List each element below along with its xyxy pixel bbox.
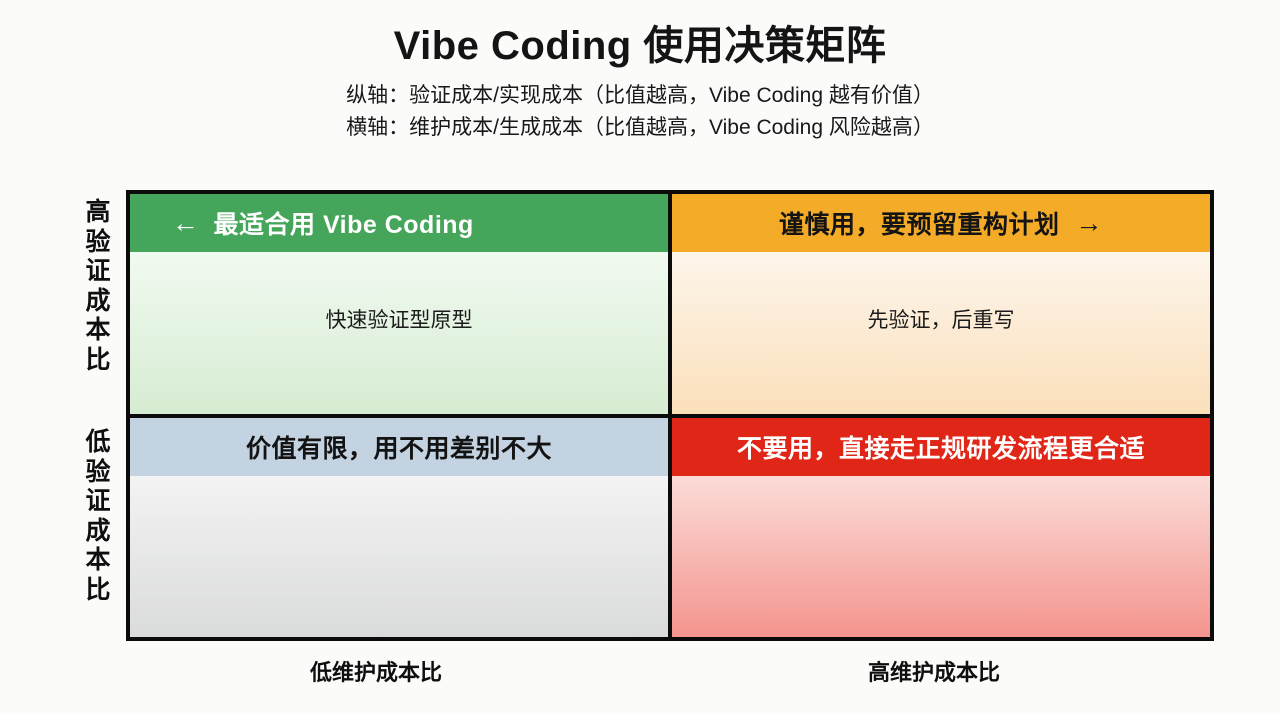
quadrant-top-right-banner: 谨慎用，要预留重构计划 →: [672, 194, 1210, 252]
matrix-grid: ← 最适合用 Vibe Coding 快速验证型原型 谨慎用，要预留重构计划 →…: [126, 190, 1214, 641]
quadrant-top-left-banner-label: 最适合用 Vibe Coding: [214, 205, 474, 241]
quadrant-bottom-left-body: [130, 476, 668, 638]
quadrant-top-right-body-label: 先验证，后重写: [868, 304, 1015, 334]
quadrant-top-left-body-label: 快速验证型原型: [326, 304, 473, 334]
x-axis-label-high: 高维护成本比: [868, 655, 1000, 687]
quadrant-bottom-right-banner: 不要用，直接走正规研发流程更合适: [672, 418, 1210, 476]
arrow-left-icon: ←: [172, 208, 200, 239]
x-axis-label-low: 低维护成本比: [310, 655, 442, 687]
quadrant-top-right-body: 先验证，后重写: [672, 252, 1210, 414]
y-axis-label-low: 低验证成本比: [78, 428, 118, 605]
quadrant-bottom-left-banner: 价值有限，用不用差别不大: [130, 418, 668, 476]
y-axis-label-high: 高验证成本比: [78, 198, 118, 375]
subtitle-y-axis: 纵轴：验证成本/实现成本（比值越高，Vibe Coding 越有价值）: [346, 81, 934, 111]
quadrant-top-right[interactable]: 谨慎用，要预留重构计划 → 先验证，后重写: [672, 194, 1210, 414]
quadrant-top-left[interactable]: ← 最适合用 Vibe Coding 快速验证型原型: [130, 194, 668, 414]
quadrant-bottom-left[interactable]: 价值有限，用不用差别不大: [130, 418, 668, 638]
subtitle-x-axis: 横轴：维护成本/生成成本（比值越高，Vibe Coding 风险越高）: [346, 113, 934, 143]
decision-matrix: ← 最适合用 Vibe Coding 快速验证型原型 谨慎用，要预留重构计划 →…: [126, 190, 1214, 641]
quadrant-top-left-banner: ← 最适合用 Vibe Coding: [130, 194, 668, 252]
quadrant-bottom-left-banner-label: 价值有限，用不用差别不大: [246, 429, 552, 465]
arrow-right-icon: →: [1076, 208, 1104, 239]
quadrant-bottom-right[interactable]: 不要用，直接走正规研发流程更合适: [672, 418, 1210, 638]
header: Vibe Coding 使用决策矩阵 纵轴：验证成本/实现成本（比值越高，Vib…: [0, 0, 1280, 142]
subtitle-group: 纵轴：验证成本/实现成本（比值越高，Vibe Coding 越有价值） 横轴：维…: [0, 81, 1280, 143]
quadrant-bottom-right-body: [672, 476, 1210, 638]
quadrant-bottom-right-banner-label: 不要用，直接走正规研发流程更合适: [737, 429, 1145, 465]
quadrant-top-right-banner-label: 谨慎用，要预留重构计划: [779, 205, 1060, 241]
quadrant-top-left-body: 快速验证型原型: [130, 252, 668, 414]
page-title: Vibe Coding 使用决策矩阵: [0, 24, 1280, 69]
